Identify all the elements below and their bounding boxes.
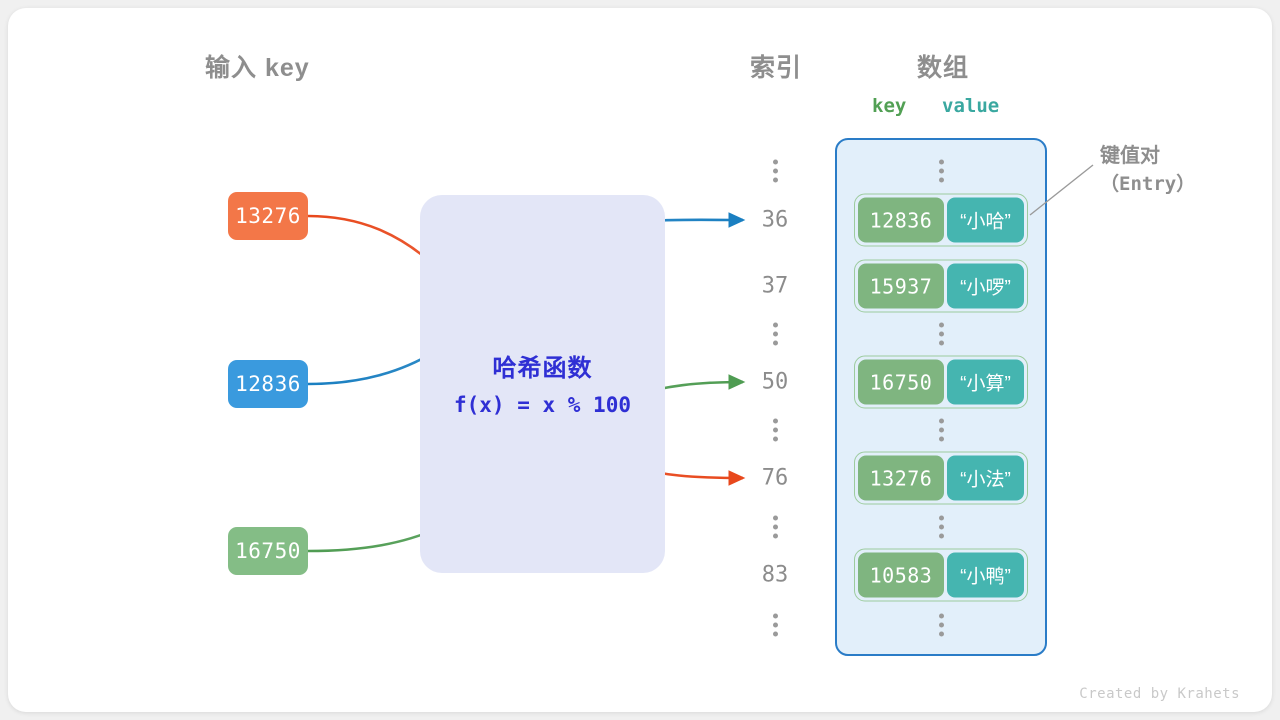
annotation-leader-line (1030, 165, 1093, 215)
entry-annotation: 键值对 （Entry） (1100, 142, 1250, 199)
diagram-stage: 输入 key 索引 数组 key value (0, 0, 1280, 720)
entry-annotation-line2: （Entry） (1100, 171, 1250, 199)
entry-annotation-line1: 键值对 (1100, 142, 1250, 171)
watermark: Created by Krahets (1079, 686, 1240, 702)
annotation-leader (0, 0, 1280, 720)
